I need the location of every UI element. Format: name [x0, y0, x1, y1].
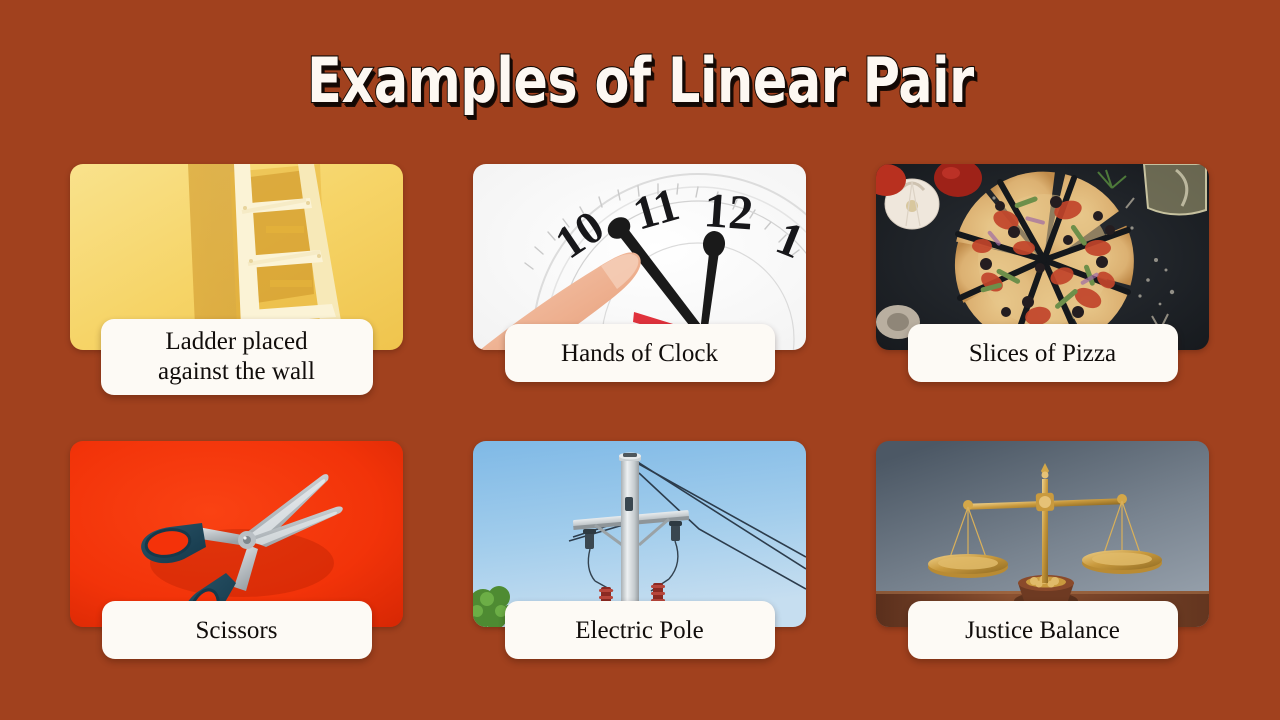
card-caption-plate: Hands of Clock [505, 324, 775, 382]
card-caption-text: Hands of Clock [561, 339, 718, 368]
justice-balance-scale-photo [876, 441, 1209, 627]
sliced-pizza-photo [876, 164, 1209, 350]
card-caption-plate: Scissors [102, 601, 372, 659]
card-caption-text: Slices of Pizza [969, 339, 1116, 368]
example-card-clock[interactable]: 10 11 12 1 [473, 164, 806, 350]
svg-text:12: 12 [702, 182, 755, 240]
open-scissors-photo [70, 441, 403, 627]
electric-pole-photo [473, 441, 806, 627]
card-caption-text: Ladder placed against the wall [158, 327, 315, 387]
card-caption-plate: Electric Pole [505, 601, 775, 659]
card-caption-text: Scissors [196, 616, 278, 645]
example-card-scissors[interactable]: Scissors [70, 441, 403, 627]
example-card-ladder[interactable]: Ladder placed against the wall [70, 164, 403, 350]
card-caption-text: Electric Pole [575, 616, 703, 645]
example-card-electric-pole[interactable]: Electric Pole [473, 441, 806, 627]
analog-clock-face-photo: 10 11 12 1 [473, 164, 806, 350]
slide-root: Examples of Linear Pair [0, 0, 1280, 720]
example-card-pizza[interactable]: Slices of Pizza [876, 164, 1209, 350]
card-caption-plate: Ladder placed against the wall [101, 319, 373, 395]
card-caption-plate: Slices of Pizza [908, 324, 1178, 382]
example-card-justice-balance[interactable]: Justice Balance [876, 441, 1209, 627]
examples-grid: Ladder placed against the wall [70, 164, 1210, 627]
page-title: Examples of Linear Pair [307, 44, 974, 118]
card-caption-text: Justice Balance [965, 616, 1120, 645]
title-container: Examples of Linear Pair [0, 44, 1280, 118]
card-caption-plate: Justice Balance [908, 601, 1178, 659]
